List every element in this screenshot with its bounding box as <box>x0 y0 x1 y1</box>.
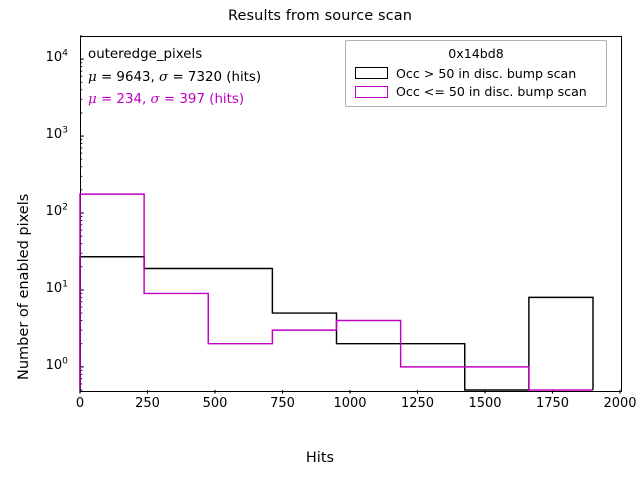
annotation-line-name: outeredge_pixels <box>88 44 328 67</box>
chart-title: Results from source scan <box>0 8 640 24</box>
legend-title: 0x14bd8 <box>352 45 600 64</box>
legend: 0x14bd8 Occ > 50 in disc. bump scanOcc <… <box>345 40 607 107</box>
mu-value-magenta: = 234, <box>97 92 151 107</box>
x-tick-label: 500 <box>203 396 228 411</box>
y-tick-label: 103 <box>22 127 68 142</box>
x-tick-label: 0 <box>76 396 84 411</box>
statistics-annotation: outeredge_pixels μ = 9643, σ = 7320 (hit… <box>88 44 328 112</box>
legend-entry-label: Occ > 50 in disc. bump scan <box>396 66 576 81</box>
mu-value-black: = 9643, <box>97 70 159 85</box>
y-tick-label: 100 <box>22 358 68 373</box>
x-tick-label: 250 <box>135 396 160 411</box>
x-tick-label: 1500 <box>468 396 501 411</box>
x-tick-label: 1000 <box>333 396 366 411</box>
x-tick-label: 2000 <box>603 396 636 411</box>
annotation-pixel-group: outeredge_pixels <box>88 47 202 62</box>
sigma-symbol-black: σ <box>159 70 168 85</box>
annotation-line-magenta-stats: μ = 234, σ = 397 (hits) <box>88 89 328 112</box>
x-tick-label: 1250 <box>401 396 434 411</box>
mu-symbol-black: μ <box>88 70 97 85</box>
legend-entry[interactable]: Occ > 50 in disc. bump scan <box>352 64 600 83</box>
legend-entry[interactable]: Occ <= 50 in disc. bump scan <box>352 83 600 102</box>
sigma-value-magenta: = 397 (hits) <box>160 92 244 107</box>
figure-canvas: Results from source scan Number of enabl… <box>0 0 640 480</box>
x-tick-label: 750 <box>270 396 295 411</box>
x-tick-label: 1750 <box>536 396 569 411</box>
legend-swatch-icon <box>355 86 388 98</box>
y-tick-label: 102 <box>22 204 68 219</box>
legend-entry-label: Occ <= 50 in disc. bump scan <box>396 84 587 99</box>
y-tick-label: 104 <box>22 50 68 65</box>
x-axis-label: Hits <box>0 450 640 466</box>
sigma-value-black: = 7320 (hits) <box>168 70 261 85</box>
mu-symbol-magenta: μ <box>88 92 97 107</box>
legend-entries: Occ > 50 in disc. bump scanOcc <= 50 in … <box>352 64 600 101</box>
annotation-line-black-stats: μ = 9643, σ = 7320 (hits) <box>88 67 328 90</box>
legend-swatch-icon <box>355 67 388 79</box>
y-tick-label: 101 <box>22 281 68 296</box>
sigma-symbol-magenta: σ <box>151 92 160 107</box>
